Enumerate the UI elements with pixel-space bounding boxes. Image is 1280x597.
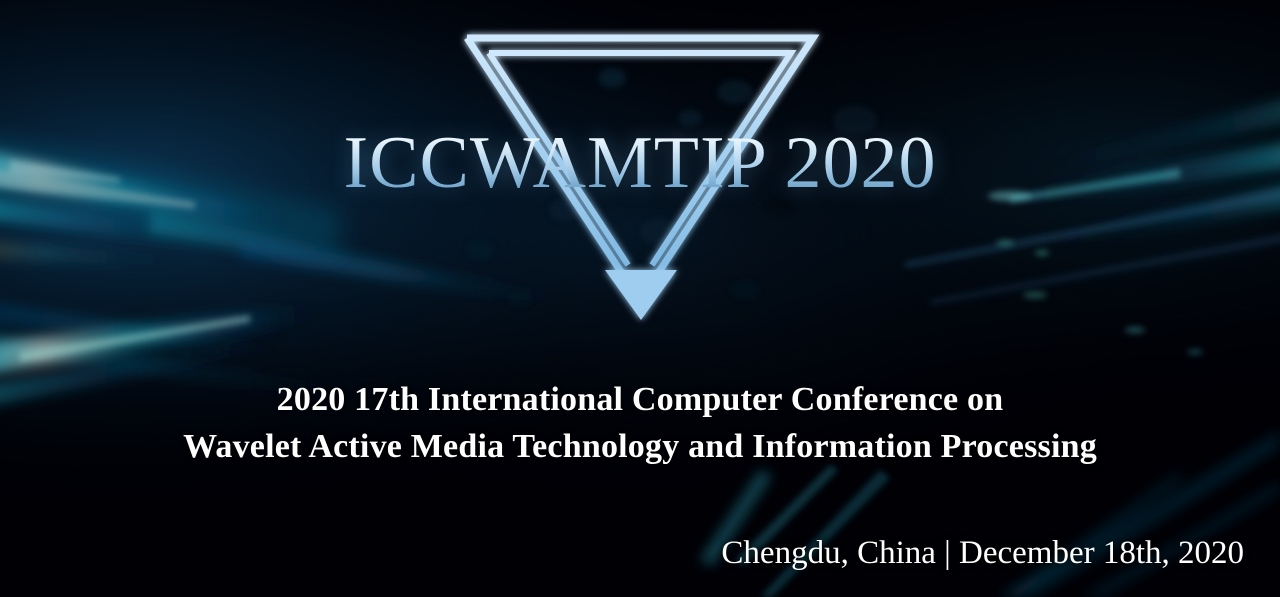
conference-banner: ICCWAMTIP 2020 2020 17th International C…: [0, 0, 1280, 597]
subtitle-line-2: Wavelet Active Media Technology and Info…: [0, 423, 1280, 470]
page-title: ICCWAMTIP 2020: [0, 126, 1280, 200]
conference-subtitle: 2020 17th International Computer Confere…: [0, 376, 1280, 470]
venue-date: Chengdu, China | December 18th, 2020: [721, 534, 1244, 574]
subtitle-line-1: 2020 17th International Computer Confere…: [0, 376, 1280, 423]
